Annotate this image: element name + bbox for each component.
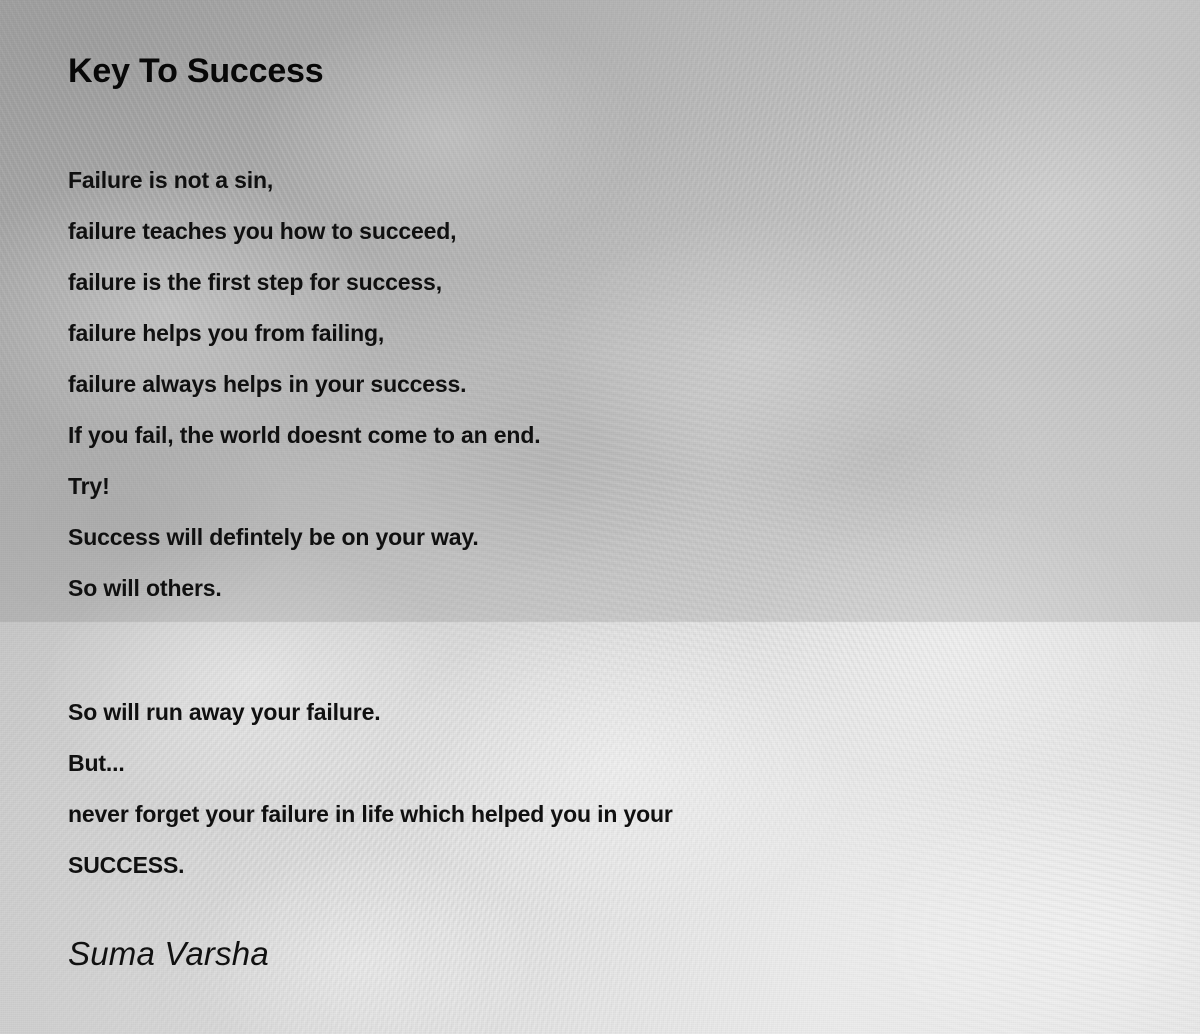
poem-line: Try! bbox=[68, 461, 540, 512]
poem-stanza-2: So will run away your failure. But... ne… bbox=[68, 687, 673, 891]
poem-stanza-1: Failure is not a sin, failure teaches yo… bbox=[68, 155, 540, 614]
poem-line: So will others. bbox=[68, 563, 540, 614]
poem-line: Success will defintely be on your way. bbox=[68, 512, 540, 563]
poem-line: failure teaches you how to succeed, bbox=[68, 206, 540, 257]
poem-line: Failure is not a sin, bbox=[68, 155, 540, 206]
poem-title: Key To Success bbox=[68, 50, 323, 92]
poem-line: SUCCESS. bbox=[68, 840, 673, 891]
poem-line: failure always helps in your success. bbox=[68, 359, 540, 410]
poem-line: failure is the first step for success, bbox=[68, 257, 540, 308]
poem-image: Key To Success Failure is not a sin, fai… bbox=[0, 0, 1200, 1034]
poem-line: never forget your failure in life which … bbox=[68, 789, 673, 840]
poem-line: If you fail, the world doesnt come to an… bbox=[68, 410, 540, 461]
poem-content: Key To Success Failure is not a sin, fai… bbox=[0, 0, 1200, 1034]
poem-line: failure helps you from failing, bbox=[68, 308, 540, 359]
poem-line: But... bbox=[68, 738, 673, 789]
poem-line: So will run away your failure. bbox=[68, 687, 673, 738]
poem-author-signature: Suma Varsha bbox=[68, 932, 269, 976]
